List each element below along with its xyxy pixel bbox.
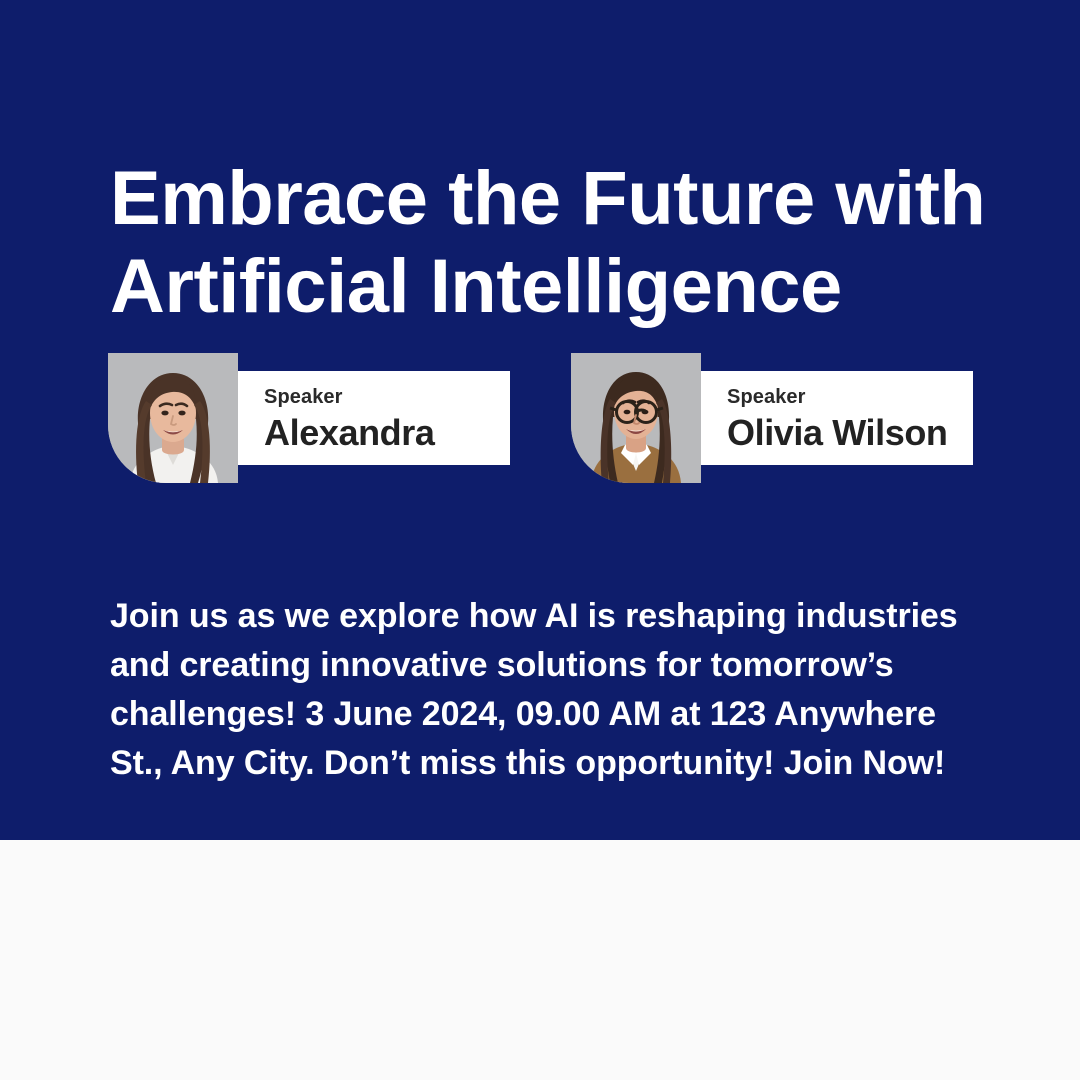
speaker-role-label: Speaker [727, 385, 973, 409]
speaker-name: Olivia Wilson [727, 411, 973, 455]
speaker-nameplate: Speaker Olivia Wilson [701, 371, 973, 465]
speaker-card[interactable]: Speaker Olivia Wilson [571, 353, 973, 483]
speaker-nameplate: Speaker Alexandra [238, 371, 510, 465]
hero-panel: Embrace the Future with Artificial Intel… [0, 0, 1080, 840]
speaker-role-label: Speaker [264, 385, 510, 409]
poster-canvas: Embrace the Future with Artificial Intel… [0, 0, 1080, 1080]
event-description: Join us as we explore how AI is reshapin… [110, 592, 990, 788]
speaker-name: Alexandra [264, 411, 510, 455]
footer-panel: Capcut Free Registration! Follow our soc… [0, 840, 1080, 1080]
avatar [571, 353, 701, 483]
speaker-card[interactable]: Speaker Alexandra [108, 353, 510, 483]
avatar [108, 353, 238, 483]
